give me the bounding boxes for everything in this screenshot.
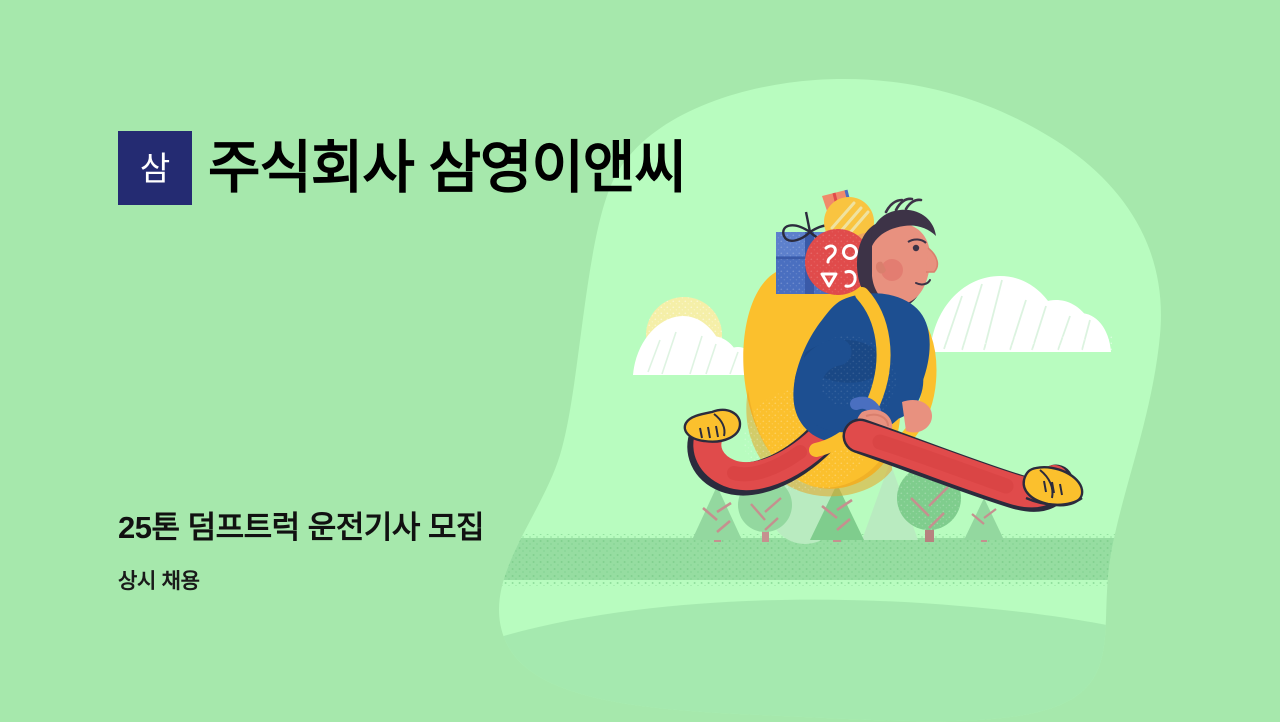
hills-left [633, 316, 758, 375]
tree-item [738, 478, 792, 542]
company-initial-text: 삼 [140, 152, 170, 185]
runner-figure [685, 190, 1082, 505]
leading-leg [860, 436, 1056, 494]
gift-sack [743, 264, 900, 489]
job-posting-card: 삼 주식회사 삼영이앤씨 25톤 덤프트럭 운전기사 모집 상시 채용 [0, 0, 1280, 722]
sack-strap [816, 294, 884, 450]
hills-right [930, 276, 1112, 352]
posting-text-block: 25톤 덤프트럭 운전기사 모집 상시 채용 [118, 509, 484, 592]
yellow-striped-ball [824, 197, 874, 247]
tree-item [897, 466, 961, 542]
tree-row [692, 462, 1004, 544]
red-patterned-ball [805, 229, 871, 295]
job-title: 25톤 덤프트럭 운전기사 모집 [118, 509, 484, 548]
runner-head [857, 199, 937, 309]
brand-row: 삼 주식회사 삼영이앤씨 [118, 131, 686, 205]
striped-cylinder [856, 232, 897, 292]
runner-hand [856, 410, 892, 441]
tree-item [692, 486, 742, 542]
company-name: 주식회사 삼영이앤씨 [208, 140, 686, 197]
illustration-running-delivery-person [0, 0, 1280, 722]
shoe-left [685, 410, 740, 442]
ground-strip [500, 538, 1180, 580]
kite-ornament [822, 190, 852, 220]
trailing-leg [704, 436, 820, 479]
blue-gift-box [776, 212, 846, 294]
foreground-hill [490, 600, 1180, 722]
tree-item [810, 484, 864, 542]
runner-torso [793, 293, 929, 442]
shoe-right [1024, 467, 1082, 505]
background-blob [0, 0, 1280, 722]
sun-icon [646, 297, 722, 373]
tree-item [964, 498, 1004, 542]
job-status-label: 상시 채용 [118, 571, 484, 592]
company-initial-badge: 삼 [118, 131, 192, 205]
